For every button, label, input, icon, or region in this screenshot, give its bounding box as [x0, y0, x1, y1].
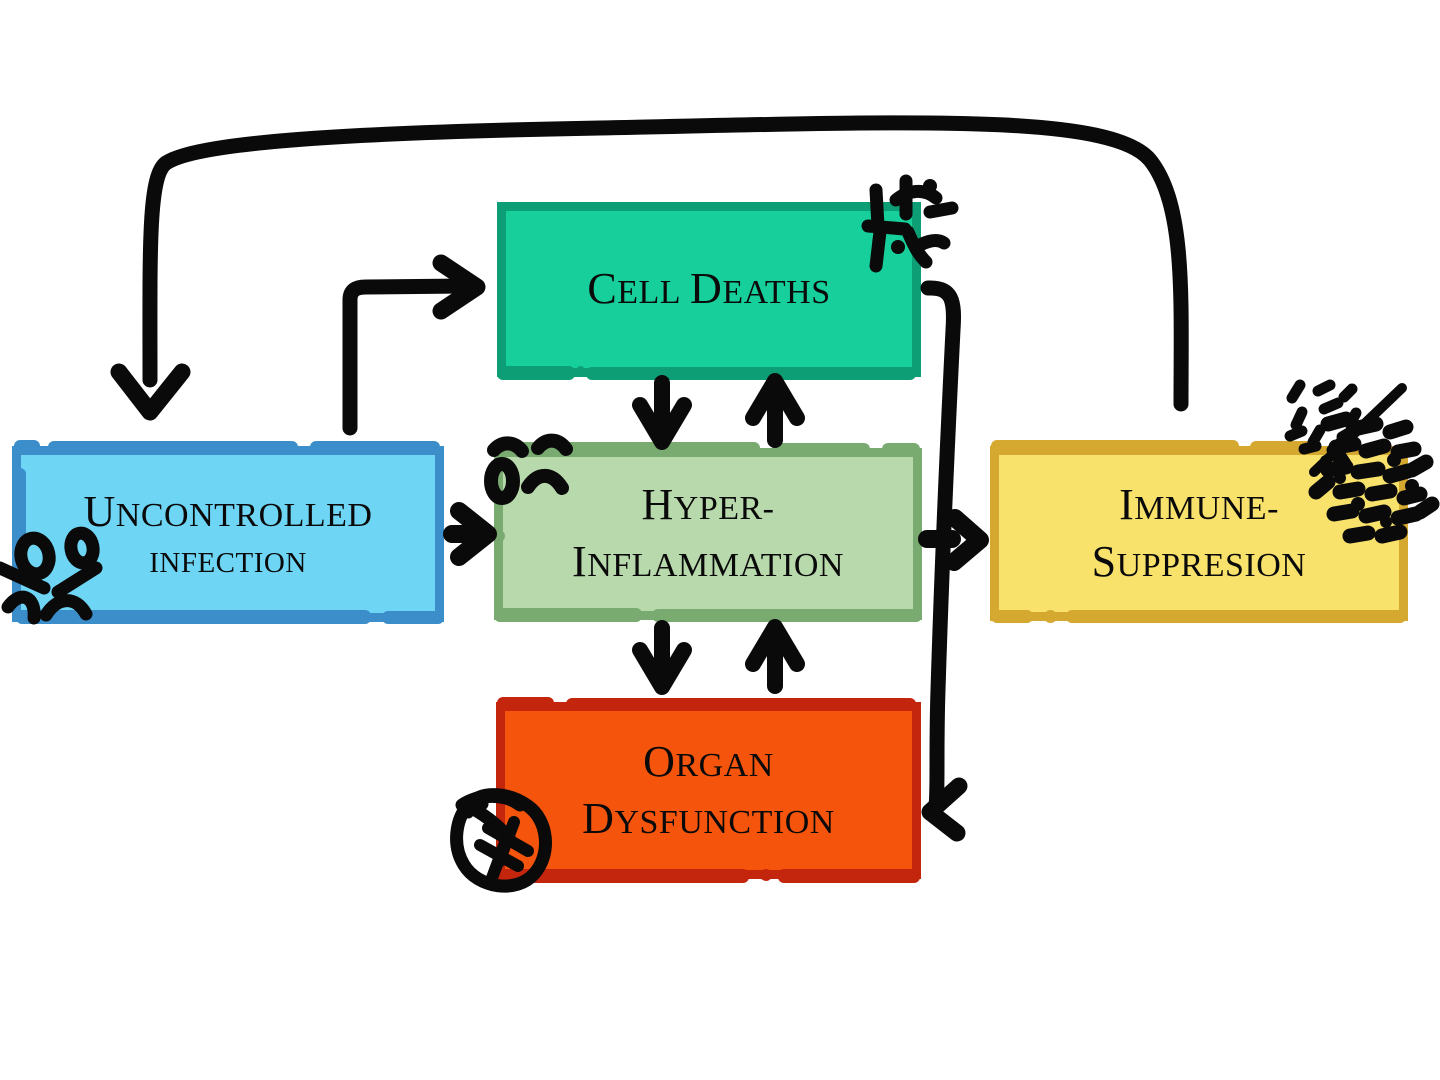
- edge-hyper-to-immune: [927, 518, 980, 562]
- node-label-cell-deaths: CELL DEATHS: [587, 267, 830, 312]
- node-organ-dysfunction[interactable]: ORGAN DYSFUNCTION: [496, 702, 921, 879]
- edge-celldeaths-hyper: [640, 381, 797, 442]
- node-label-immune-suppresion: IMMUNE- SUPPRESION: [1092, 483, 1307, 585]
- node-label-hyper-inflammation: HYPER- INFLAMMATION: [572, 483, 844, 585]
- node-hyper-inflammation[interactable]: HYPER- INFLAMMATION: [494, 448, 922, 620]
- node-label-uncontrolled-infection: UNCONTROLLED INFECTION: [84, 490, 373, 578]
- edge-uncontrolled-to-celldeaths: [350, 263, 477, 428]
- diagram-canvas: UNCONTROLLED INFECTION CELL DEATHS HYPER…: [0, 0, 1440, 1080]
- node-label-organ-dysfunction: ORGAN DYSFUNCTION: [582, 740, 835, 842]
- edge-hyper-organ: [640, 627, 797, 687]
- node-immune-suppresion[interactable]: IMMUNE- SUPPRESION: [990, 446, 1408, 621]
- edge-uncontrolled-to-hyper: [452, 511, 488, 557]
- node-cell-deaths[interactable]: CELL DEATHS: [497, 202, 921, 377]
- edge-celldeaths-to-organ: [928, 288, 959, 833]
- node-uncontrolled-infection[interactable]: UNCONTROLLED INFECTION: [12, 446, 444, 622]
